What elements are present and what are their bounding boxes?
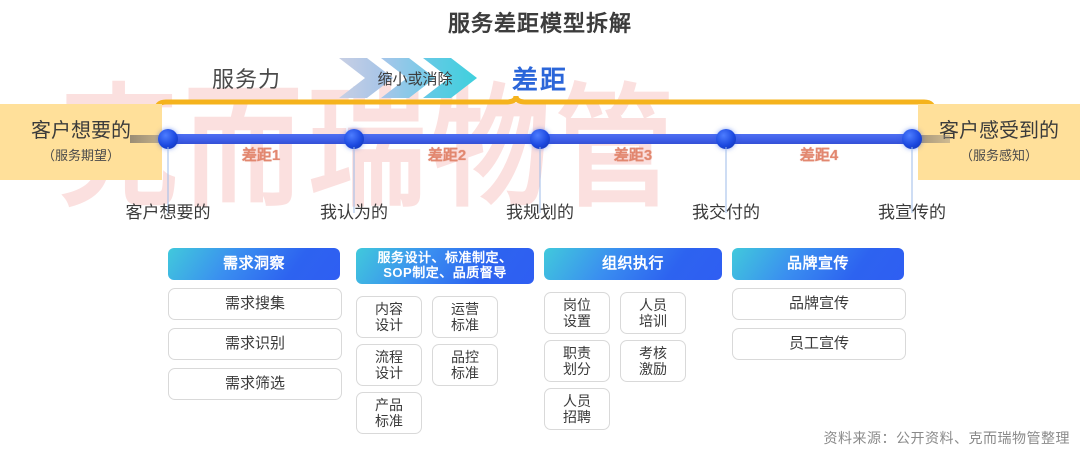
stage-header-2[interactable]: 服务设计、标准制定、SOP制定、品质督导 — [356, 248, 534, 284]
stage-item-3-L3[interactable]: 人员招聘 — [544, 388, 610, 430]
timeline-node-label-4: 我交付的 — [692, 198, 760, 223]
stage-item-4-1[interactable]: 品牌宣传 — [732, 288, 906, 320]
timeline-node-label-1: 客户想要的 — [126, 198, 211, 223]
timeline-node-label-2: 我认为的 — [320, 198, 388, 223]
stage-subcolumns-3: 岗位设置职责划分人员招聘人员培训考核激励 — [544, 286, 722, 430]
stage-subcolumn-left-3: 岗位设置职责划分人员招聘 — [544, 286, 610, 430]
stage-item-2-L3[interactable]: 产品标准 — [356, 392, 422, 434]
service-power-label: 服务力 — [212, 62, 281, 94]
stage-item-3-R2[interactable]: 考核激励 — [620, 340, 686, 382]
stage-item-4-2[interactable]: 员工宣传 — [732, 328, 906, 360]
stage-item-1-2[interactable]: 需求识别 — [168, 328, 342, 360]
stage-item-2-L1[interactable]: 内容设计 — [356, 296, 422, 338]
timeline-node-5 — [902, 129, 922, 149]
endpoint-left-title: 客户想要的 — [31, 120, 131, 142]
stage-header-4[interactable]: 品牌宣传 — [732, 248, 904, 280]
stage-item-2-L2[interactable]: 流程设计 — [356, 344, 422, 386]
stage-subcolumn-left-2: 内容设计流程设计产品标准 — [356, 290, 422, 434]
stage-item-1-1[interactable]: 需求搜集 — [168, 288, 342, 320]
stage-subcolumn-right-3: 人员培训考核激励 — [620, 286, 686, 430]
diagram-canvas: 克而瑞物管 服务差距模型拆解 服务力 缩小或消除 差距 — [0, 0, 1080, 460]
stage-column-4: 品牌宣传品牌宣传员工宣传 — [732, 248, 904, 360]
stage-item-2-R2[interactable]: 品控标准 — [432, 344, 498, 386]
stage-item-3-L2[interactable]: 职责划分 — [544, 340, 610, 382]
stage-item-3-R1[interactable]: 人员培训 — [620, 292, 686, 334]
timeline-node-4 — [716, 129, 736, 149]
timeline-node-1 — [158, 129, 178, 149]
timeline-node-label-3: 我规划的 — [506, 198, 574, 223]
endpoint-right-title: 客户感受到的 — [939, 120, 1059, 142]
endpoint-left-subtitle: （服务期望） — [42, 145, 120, 164]
gap-label-4: 差距4 — [800, 144, 838, 165]
stage-column-3: 组织执行岗位设置职责划分人员招聘人员培训考核激励 — [544, 248, 722, 430]
stage-column-2: 服务设计、标准制定、SOP制定、品质督导内容设计流程设计产品标准运营标准品控标准 — [356, 248, 534, 434]
timeline-node-label-5: 我宣传的 — [878, 198, 946, 223]
page-title: 服务差距模型拆解 — [0, 6, 1080, 38]
stage-item-1-3[interactable]: 需求筛选 — [168, 368, 342, 400]
timeline-node-2 — [344, 129, 364, 149]
gap-label-1: 差距1 — [242, 144, 280, 165]
stage-columns: 需求洞察需求搜集需求识别需求筛选服务设计、标准制定、SOP制定、品质督导内容设计… — [168, 248, 912, 428]
endpoint-right-subtitle: （服务感知） — [960, 145, 1038, 164]
stage-subcolumns-2: 内容设计流程设计产品标准运营标准品控标准 — [356, 290, 534, 434]
gap-label-3: 差距3 — [614, 144, 652, 165]
stage-column-1: 需求洞察需求搜集需求识别需求筛选 — [168, 248, 340, 400]
stage-item-3-L1[interactable]: 岗位设置 — [544, 292, 610, 334]
stage-subcolumn-right-2: 运营标准品控标准 — [432, 290, 498, 434]
stage-header-1[interactable]: 需求洞察 — [168, 248, 340, 280]
stage-header-3[interactable]: 组织执行 — [544, 248, 722, 280]
source-note: 资料来源：公开资料、克而瑞物管整理 — [824, 428, 1071, 448]
timeline-node-3 — [530, 129, 550, 149]
reduce-eliminate-label: 缩小或消除 — [345, 68, 485, 89]
gap-label-2: 差距2 — [428, 144, 466, 165]
stage-item-2-R1[interactable]: 运营标准 — [432, 296, 498, 338]
gap-headline-label: 差距 — [512, 60, 568, 97]
